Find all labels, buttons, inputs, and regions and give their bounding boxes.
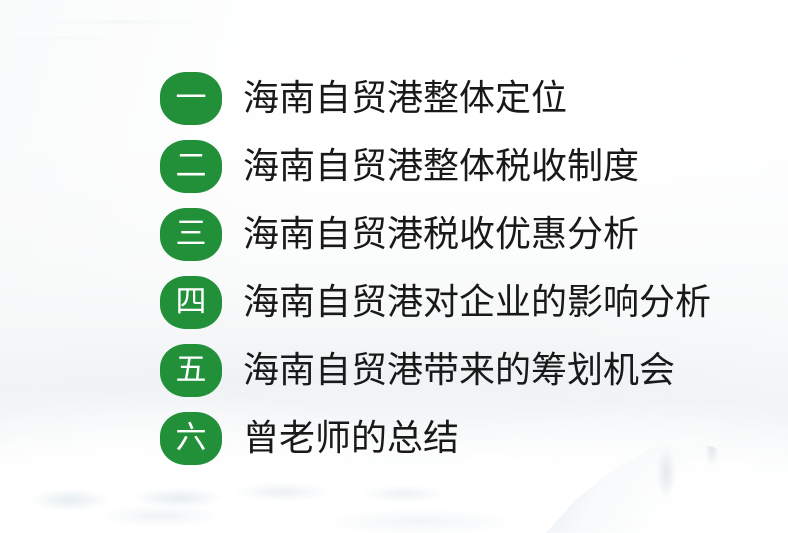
agenda-item-label-3: 海南自贸港税收优惠分析 <box>243 216 639 254</box>
agenda-item-4[interactable]: 四 海南自贸港对企业的影响分析 <box>160 276 780 329</box>
agenda-item-6[interactable]: 六 曾老师的总结 <box>160 412 780 465</box>
agenda-item-3[interactable]: 三 海南自贸港税收优惠分析 <box>160 208 780 261</box>
agenda-number-badge-4: 四 <box>160 276 222 329</box>
agenda-item-label-4: 海南自贸港对企业的影响分析 <box>243 284 711 322</box>
agenda-number-badge-2: 二 <box>160 140 222 193</box>
agenda-item-label-2: 海南自贸港整体税收制度 <box>243 148 639 186</box>
agenda-item-2[interactable]: 二 海南自贸港整体税收制度 <box>160 140 780 193</box>
agenda-item-5[interactable]: 五 海南自贸港带来的筹划机会 <box>160 344 780 397</box>
presentation-slide: 一 海南自贸港整体定位 二 海南自贸港整体税收制度 三 海南自贸港税收优惠分析 … <box>0 0 788 533</box>
agenda-number-badge-6: 六 <box>160 412 222 465</box>
agenda-list: 一 海南自贸港整体定位 二 海南自贸港整体税收制度 三 海南自贸港税收优惠分析 … <box>160 72 780 465</box>
agenda-item-label-6: 曾老师的总结 <box>243 420 459 458</box>
agenda-item-label-5: 海南自贸港带来的筹划机会 <box>243 352 675 390</box>
agenda-number-badge-3: 三 <box>160 208 222 261</box>
agenda-item-1[interactable]: 一 海南自贸港整体定位 <box>160 72 780 125</box>
agenda-item-label-1: 海南自贸港整体定位 <box>243 80 567 118</box>
agenda-number-badge-5: 五 <box>160 344 222 397</box>
agenda-number-badge-1: 一 <box>160 72 222 125</box>
